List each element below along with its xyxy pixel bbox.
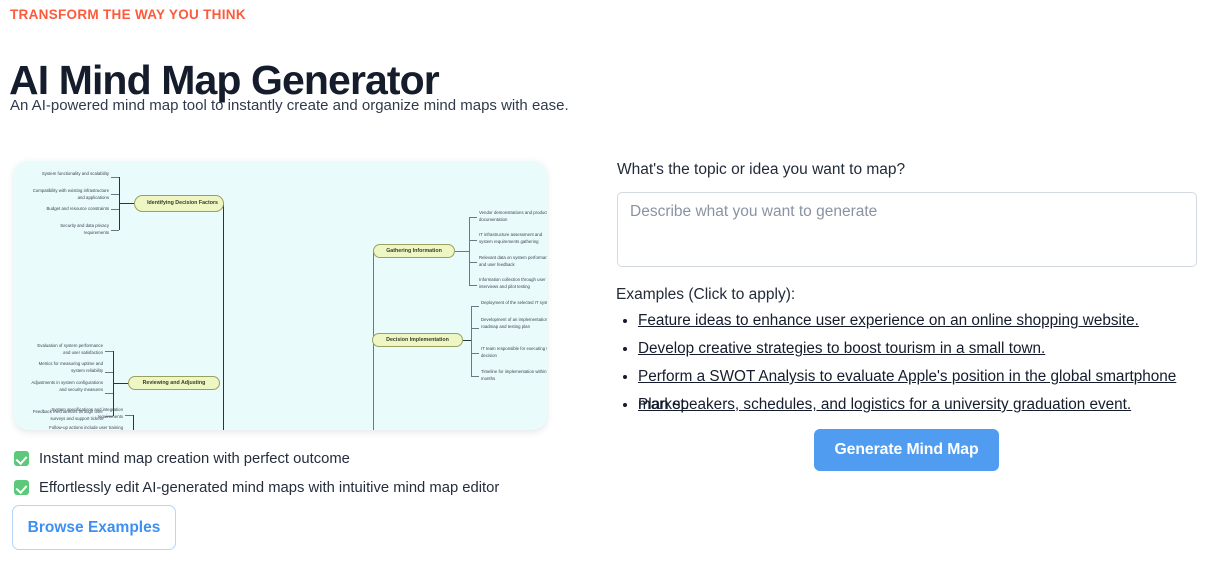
example-link[interactable]: Develop creative strategies to boost tou… <box>638 340 1045 357</box>
mindmap-leaf: IT infrastructure assessment and system … <box>479 232 547 245</box>
connector <box>105 416 113 417</box>
prompt-input[interactable] <box>617 192 1197 267</box>
connector <box>105 372 113 373</box>
connector <box>469 217 477 218</box>
connector <box>471 353 479 354</box>
feature-item: Instant mind map creation with perfect o… <box>14 444 499 473</box>
mindmap-diagram: Decision Making for IT System Implementa… <box>14 161 547 430</box>
landing-page: TRANSFORM THE WAY YOU THINK AI Mind Map … <box>0 0 1212 569</box>
mindmap-leaf: Information collection through user inte… <box>479 277 547 290</box>
mindmap-leaf: Timeline for implementation within six m… <box>481 369 547 382</box>
mindmap-leaf: Compatibility with existing infrastructu… <box>28 188 109 201</box>
examples-list: Feature ideas to enhance user experience… <box>616 307 1212 419</box>
connector <box>471 306 472 376</box>
connector <box>125 415 133 416</box>
connector <box>105 393 113 394</box>
mindmap-leaf: Relevant data on system performance and … <box>479 255 547 268</box>
mindmap-leaf: Adjustments in system configurations and… <box>28 380 103 393</box>
mindmap-branch-identifying-decision-factors: Identifying Decision Factors <box>134 195 224 212</box>
example-link[interactable]: Feature ideas to enhance user experience… <box>638 312 1139 329</box>
connector <box>113 383 128 384</box>
mindmap-leaf: Metrics for measuring uptime and system … <box>28 361 103 374</box>
generate-mind-map-button[interactable]: Generate Mind Map <box>814 429 999 471</box>
connector <box>111 194 119 195</box>
mindmap-leaf: System functionality and scalability <box>36 171 109 178</box>
connector <box>463 340 471 341</box>
mindmap-branch-gathering-information: Gathering Information <box>373 244 455 258</box>
connector <box>469 285 477 286</box>
mindmap-leaf: IT team responsible for executing the de… <box>481 346 547 359</box>
check-icon <box>14 451 29 466</box>
check-icon <box>14 480 29 495</box>
connector <box>471 328 479 329</box>
feature-label: Effortlessly edit AI-generated mind maps… <box>39 480 499 496</box>
connector <box>469 217 470 285</box>
list-item: Perform a SWOT Analysis to evaluate Appl… <box>638 363 1212 391</box>
feature-label: Instant mind map creation with perfect o… <box>39 451 350 467</box>
prompt-label: What's the topic or idea you want to map… <box>617 161 905 179</box>
connector <box>119 203 134 204</box>
connector <box>469 240 477 241</box>
connector <box>111 230 119 231</box>
browse-examples-button[interactable]: Browse Examples <box>12 505 176 550</box>
connector <box>119 177 120 230</box>
page-subtitle: An AI-powered mind map tool to instantly… <box>10 97 569 114</box>
connector <box>113 351 114 416</box>
connector <box>471 376 479 377</box>
connector <box>111 177 119 178</box>
eyebrow-tagline: TRANSFORM THE WAY YOU THINK <box>10 7 246 22</box>
example-link[interactable]: Plan speakers, schedules, and logistics … <box>638 396 1131 413</box>
mindmap-leaf: Security and data privacy requirements <box>36 223 109 236</box>
connector <box>469 262 477 263</box>
mindmap-branch-reviewing-and-adjusting: Reviewing and Adjusting <box>128 376 220 390</box>
connector <box>471 306 479 307</box>
mindmap-leaf: Budget and resource constraints <box>28 206 109 213</box>
mindmap-leaf: Follow-up actions include user training … <box>44 425 123 430</box>
connector <box>133 415 134 430</box>
connector <box>455 251 469 252</box>
mindmap-leaf: Feedback mechanisms through user surveys… <box>18 409 103 422</box>
mindmap-leaf: Evaluation of system performance and use… <box>34 343 103 356</box>
feature-list: Instant mind map creation with perfect o… <box>14 444 499 502</box>
mindmap-leaf: Deployment of the selected IT system <box>481 300 547 307</box>
mindmap-preview-card: Decision Making for IT System Implementa… <box>14 161 547 430</box>
connector <box>105 351 113 352</box>
mindmap-leaf: Vendor demonstrations and product docume… <box>479 210 547 223</box>
list-item: Plan speakers, schedules, and logistics … <box>638 391 1212 419</box>
examples-label: Examples (Click to apply): <box>616 286 795 304</box>
mindmap-branch-decision-implementation: Decision Implementation <box>372 333 463 347</box>
list-item: Feature ideas to enhance user experience… <box>638 307 1212 335</box>
connector <box>223 203 224 430</box>
list-item: Develop creative strategies to boost tou… <box>638 335 1212 363</box>
connector <box>111 209 119 210</box>
feature-item: Effortlessly edit AI-generated mind maps… <box>14 473 499 502</box>
mindmap-leaf: Development of an implementation roadmap… <box>481 317 547 330</box>
